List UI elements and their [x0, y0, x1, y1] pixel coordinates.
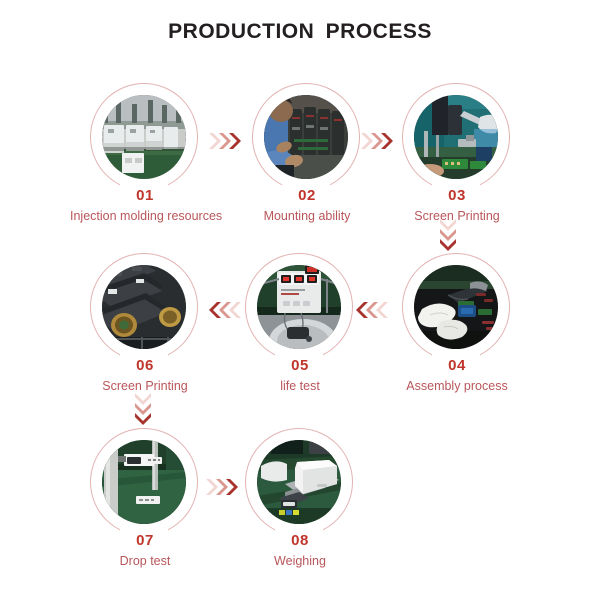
process-step-07[interactable]: 07 Drop test — [70, 428, 220, 569]
step-number: 02 — [252, 188, 362, 204]
step-caption: Injection molding resources — [70, 209, 220, 224]
step-number: 08 — [245, 533, 355, 549]
page-title: PRODUCTION PROCESS — [0, 20, 600, 44]
step-caption: Assembly process — [382, 379, 532, 394]
step-caption: Weighing — [225, 554, 375, 569]
process-step-05[interactable]: 05 life test — [225, 253, 375, 394]
step-ring — [90, 428, 198, 536]
step-circle: 03 — [402, 83, 512, 193]
chevron-right-icon — [205, 477, 239, 497]
chevron-right-icon — [208, 131, 242, 151]
process-step-03[interactable]: 03 Screen Printing — [382, 83, 532, 224]
chevron-down-icon — [133, 392, 153, 426]
step-ring — [402, 253, 510, 361]
chevron-left-icon — [208, 300, 242, 320]
step-ring — [402, 83, 510, 191]
step-number: 06 — [90, 358, 200, 374]
step-number: 07 — [90, 533, 200, 549]
step-number: 05 — [245, 358, 355, 374]
step-circle: 08 — [245, 428, 355, 538]
process-step-02[interactable]: 02 Mounting ability — [232, 83, 382, 224]
step-number: 03 — [402, 188, 512, 204]
step-number: 01 — [90, 188, 200, 204]
process-step-08[interactable]: 08 Weighing — [225, 428, 375, 569]
step-caption: Drop test — [70, 554, 220, 569]
step-number: 04 — [402, 358, 512, 374]
chevron-right-icon — [360, 131, 394, 151]
step-circle: 04 — [402, 253, 512, 363]
step-caption: life test — [225, 379, 375, 394]
production-process-infographic: PRODUCTION PROCESS — [0, 0, 600, 600]
step-caption: Mounting ability — [232, 209, 382, 224]
step-ring — [90, 83, 198, 191]
step-circle: 01 — [90, 83, 200, 193]
step-circle: 07 — [90, 428, 200, 538]
step-ring — [252, 83, 360, 191]
process-step-06[interactable]: 06 Screen Printing — [70, 253, 220, 394]
chevron-left-icon — [355, 300, 389, 320]
step-circle: 06 — [90, 253, 200, 363]
chevron-down-icon — [438, 218, 458, 252]
step-circle: 05 — [245, 253, 355, 363]
step-ring — [245, 253, 353, 361]
process-step-01[interactable]: 01 Injection molding resources — [70, 83, 220, 224]
process-step-04[interactable]: 04 Assembly process — [382, 253, 532, 394]
step-ring — [245, 428, 353, 536]
step-circle: 02 — [252, 83, 362, 193]
step-ring — [90, 253, 198, 361]
